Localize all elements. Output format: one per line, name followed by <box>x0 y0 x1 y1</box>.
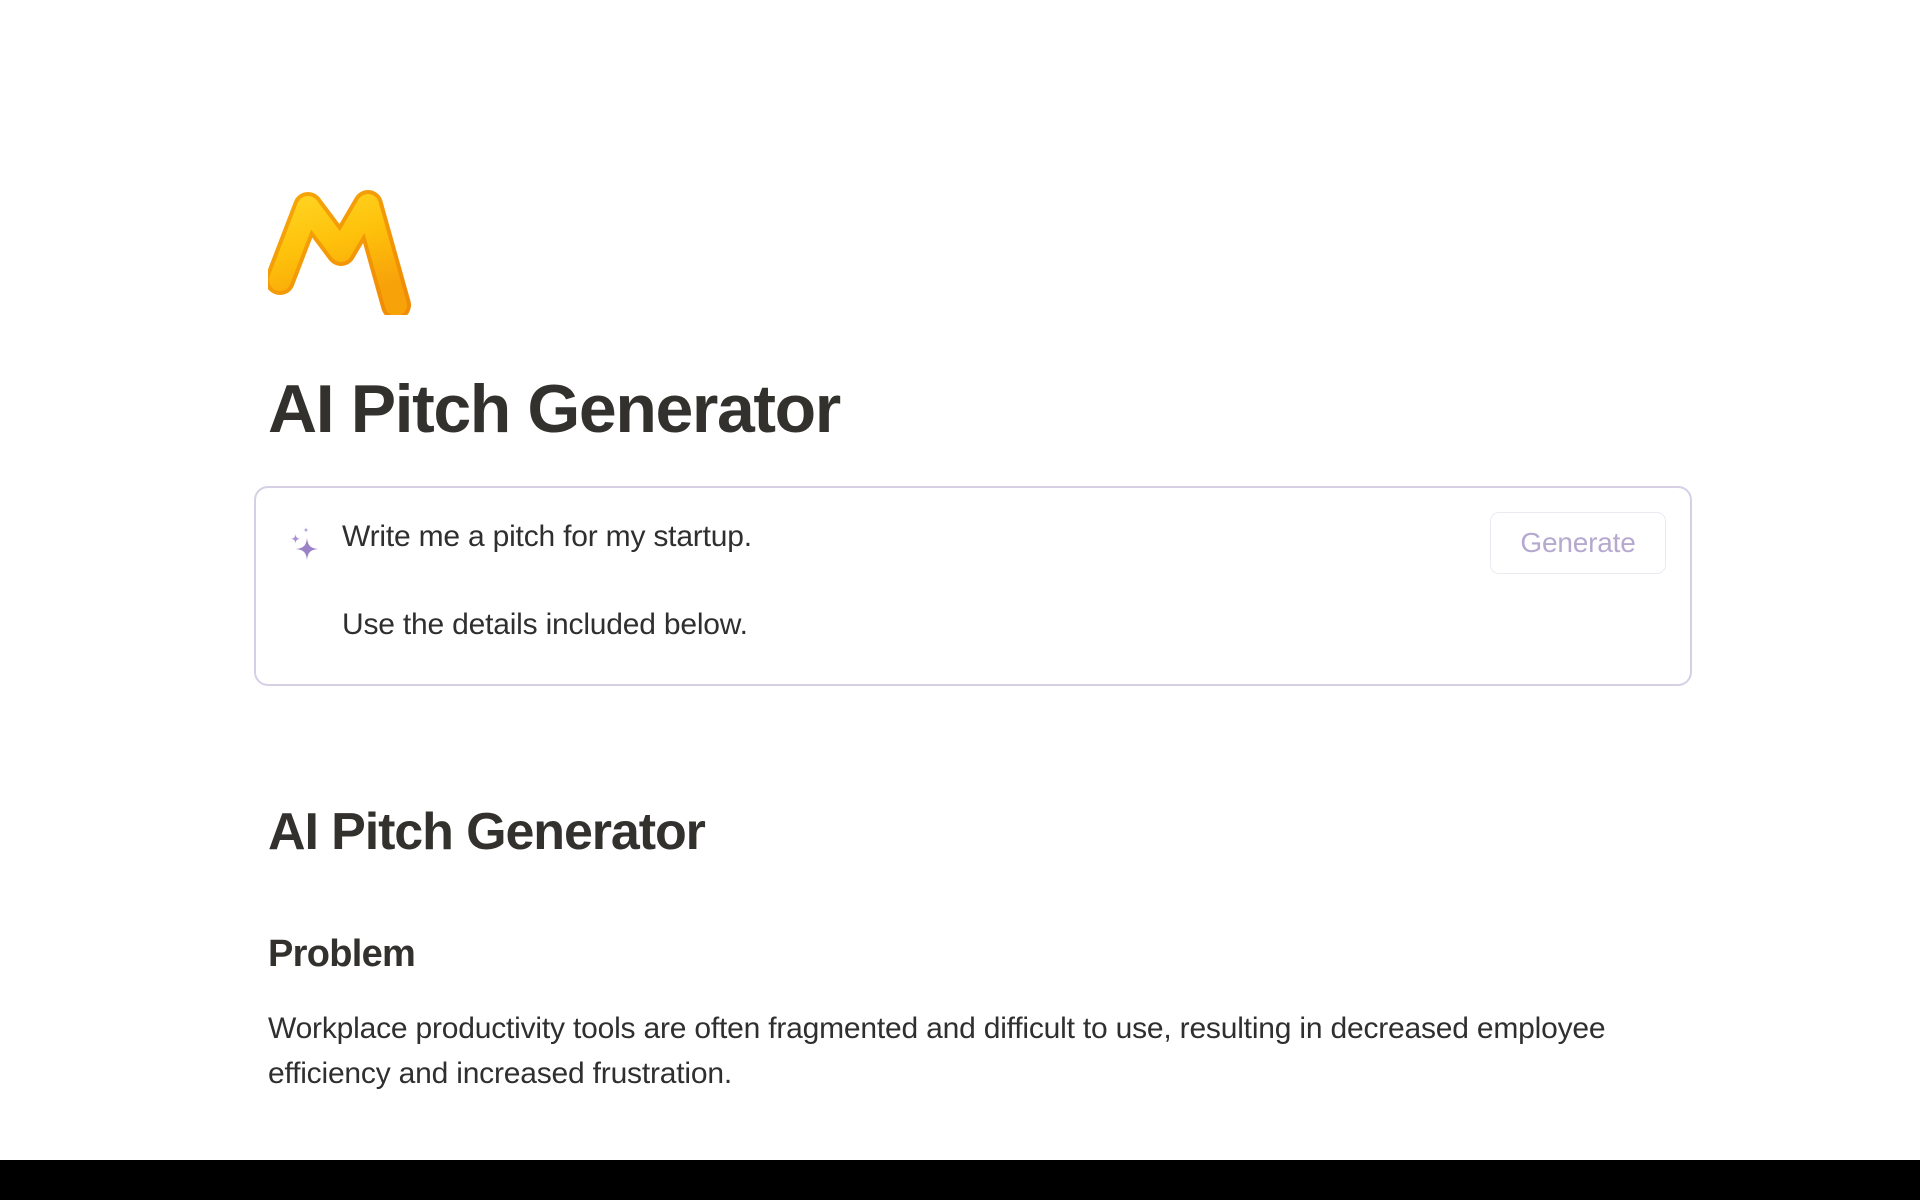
ai-sparkle-icon <box>286 526 324 566</box>
ai-prompt-line-1[interactable]: Write me a pitch for my startup. <box>342 522 1660 552</box>
page-content: AI Pitch Generator Write me a pitch for … <box>0 0 1920 1096</box>
ai-prompt-line-2[interactable]: Use the details included below. <box>342 610 1660 640</box>
section-body-problem: Workplace productivity tools are often f… <box>268 1007 1638 1095</box>
letterbox-bottom-bar <box>0 1160 1920 1200</box>
section-heading-problem: Problem <box>268 934 1690 976</box>
generate-button[interactable]: Generate <box>1490 512 1666 574</box>
yellow-mountain-m-logo-icon <box>268 185 418 315</box>
app-root: AI Pitch Generator Write me a pitch for … <box>0 0 1920 1200</box>
generated-document: AI Pitch Generator Problem Workplace pro… <box>268 804 1690 1095</box>
ai-prompt-box[interactable]: Write me a pitch for my startup. Use the… <box>254 486 1692 686</box>
app-logo <box>268 185 418 315</box>
ai-prompt-text[interactable]: Write me a pitch for my startup. Use the… <box>342 522 1660 640</box>
ai-prompt-row: Write me a pitch for my startup. Use the… <box>286 522 1660 640</box>
document-title: AI Pitch Generator <box>268 804 1690 861</box>
page-title: AI Pitch Generator <box>268 373 1690 446</box>
